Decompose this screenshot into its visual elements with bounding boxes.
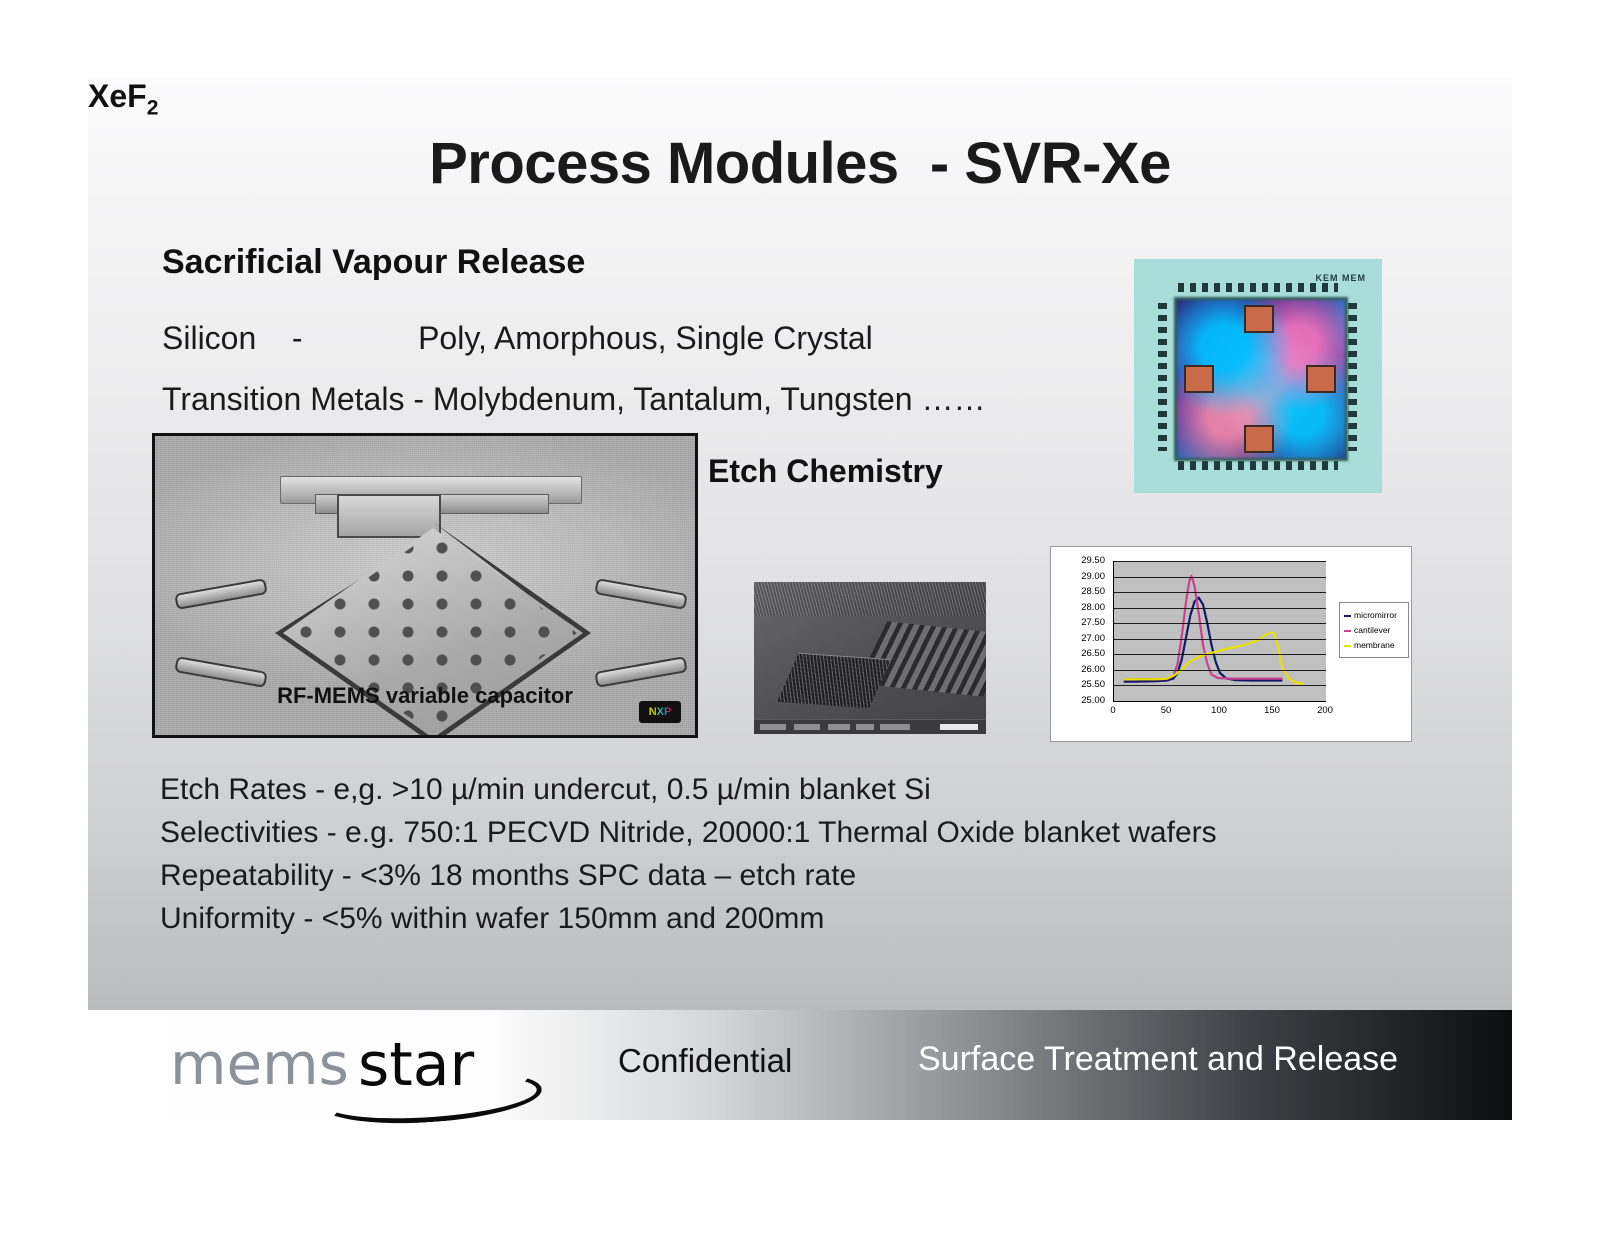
chip-bond-pads-bottom	[1178, 461, 1338, 470]
chart-gridline	[1114, 623, 1326, 624]
chart-gridline	[1114, 561, 1326, 562]
chart-x-tick-label: 200	[1312, 705, 1338, 716]
chip-bond-pads-right	[1348, 303, 1357, 451]
fact-selectivities: Selectivities - e.g. 750:1 PECVD Nitride…	[160, 811, 1500, 854]
slide-canvas: Process Modules - SVR-Xe Sacrificial Vap…	[88, 78, 1512, 1118]
sem-info-field-1	[760, 724, 786, 730]
chart-legend-item: cantilever	[1344, 623, 1404, 638]
chart-y-tick-label: 25.50	[1063, 679, 1105, 690]
sem-info-field-4	[856, 724, 874, 730]
chart-y-tick-label: 29.00	[1063, 571, 1105, 582]
section-heading-sacrificial-vapour-release: Sacrificial Vapour Release	[162, 243, 585, 282]
formula-xef2-subscript: 2	[147, 96, 159, 119]
fact-repeatability: Repeatability - <3% 18 months SPC data –…	[160, 854, 1500, 897]
sem-etched-cavity	[777, 653, 891, 708]
chart-legend-label: membrane	[1354, 638, 1395, 653]
rf-mems-capacitor-image: RF-MEMS variable capacitor NXP	[152, 433, 698, 738]
sem-undercut-trench-image	[754, 582, 986, 734]
sem-rough-film-region	[754, 582, 986, 616]
sem-info-field-3	[828, 724, 850, 730]
chip-anchor-bottom	[1244, 425, 1274, 453]
chart-x-tick-label: 50	[1153, 705, 1179, 716]
chart-x-tick-label: 150	[1259, 705, 1285, 716]
rf-mems-caption: RF-MEMS variable capacitor	[155, 683, 695, 709]
slide-footer: mems star Confidential Surface Treatment…	[88, 1010, 1512, 1120]
text-line-transition-metals: Transition Metals - Molybdenum, Tantalum…	[162, 381, 985, 418]
nxp-logo-icon: NXP	[639, 701, 681, 723]
chart-y-tick-label: 28.00	[1063, 602, 1105, 613]
chart-y-tick-label: 26.50	[1063, 648, 1105, 659]
chip-anchor-right	[1306, 365, 1336, 393]
chart-plot-area	[1113, 561, 1326, 702]
chip-bond-pads-top	[1178, 283, 1338, 292]
chip-anchor-top	[1244, 305, 1274, 333]
logo-swoosh-icon	[319, 1064, 544, 1129]
chart-legend: micromirrorcantilevermembrane	[1339, 602, 1409, 658]
nxp-logo-text: NXP	[649, 706, 672, 718]
chart-gridline	[1114, 608, 1326, 609]
formula-xef2: XeF2	[88, 78, 1512, 120]
chart-gridline	[1114, 592, 1326, 593]
chart-series-svg	[1114, 561, 1326, 701]
chart-y-tick-label: 27.50	[1063, 617, 1105, 628]
formula-xef2-base: XeF	[88, 78, 147, 114]
chart-y-tick-label: 25.00	[1063, 695, 1105, 706]
sem-info-bar	[754, 719, 986, 734]
chart-y-tick-label: 29.50	[1063, 555, 1105, 566]
chart-gridline	[1114, 654, 1326, 655]
chart-gridline	[1114, 670, 1326, 671]
spc-line-chart: 29.5029.0028.5028.0027.5027.0026.5026.00…	[1050, 546, 1412, 742]
footer-confidential-label: Confidential	[618, 1042, 792, 1080]
heading-etch-chemistry: Etch Chemistry	[708, 453, 943, 490]
chip-corner-label: KEM MEM	[1316, 273, 1367, 283]
chart-gridline	[1114, 639, 1326, 640]
text-line-silicon: Silicon - Poly, Amorphous, Single Crysta…	[162, 320, 873, 357]
sem-scale-bar	[940, 724, 978, 730]
chart-legend-item: micromirror	[1344, 608, 1404, 623]
chart-legend-item: membrane	[1344, 638, 1404, 653]
chart-x-tick-label: 0	[1100, 705, 1126, 716]
sem-top-plate	[337, 494, 441, 538]
memsstar-logo: mems star	[170, 1028, 530, 1104]
sem-info-field-2	[794, 724, 820, 730]
chart-legend-swatch	[1344, 645, 1351, 647]
chart-gridline	[1114, 701, 1326, 702]
chart-gridline	[1114, 577, 1326, 578]
footer-tagline: Surface Treatment and Release	[918, 1040, 1398, 1079]
logo-text-mems: mems	[170, 1030, 349, 1098]
chart-legend-label: cantilever	[1354, 623, 1390, 638]
chip-anchor-left	[1184, 365, 1214, 393]
chip-bond-pads-left	[1158, 303, 1167, 451]
chart-gridline	[1114, 685, 1326, 686]
chart-x-tick-label: 100	[1206, 705, 1232, 716]
page-title: Process Modules - SVR-Xe	[88, 130, 1512, 197]
chart-y-tick-label: 27.00	[1063, 633, 1105, 644]
fact-uniformity: Uniformity - <5% within wafer 150mm and …	[160, 897, 1500, 940]
sem-info-field-5	[880, 724, 910, 730]
chart-y-tick-label: 26.00	[1063, 664, 1105, 675]
chart-legend-swatch	[1344, 615, 1351, 617]
chart-y-tick-label: 28.50	[1063, 586, 1105, 597]
chart-legend-label: micromirror	[1354, 608, 1397, 623]
facts-list: Etch Rates - e,g. >10 µ/min undercut, 0.…	[160, 768, 1500, 940]
fact-etch-rates: Etch Rates - e,g. >10 µ/min undercut, 0.…	[160, 768, 1500, 811]
interferometry-membrane-image: KEM MEM	[1134, 259, 1382, 493]
chart-legend-swatch	[1344, 630, 1351, 632]
